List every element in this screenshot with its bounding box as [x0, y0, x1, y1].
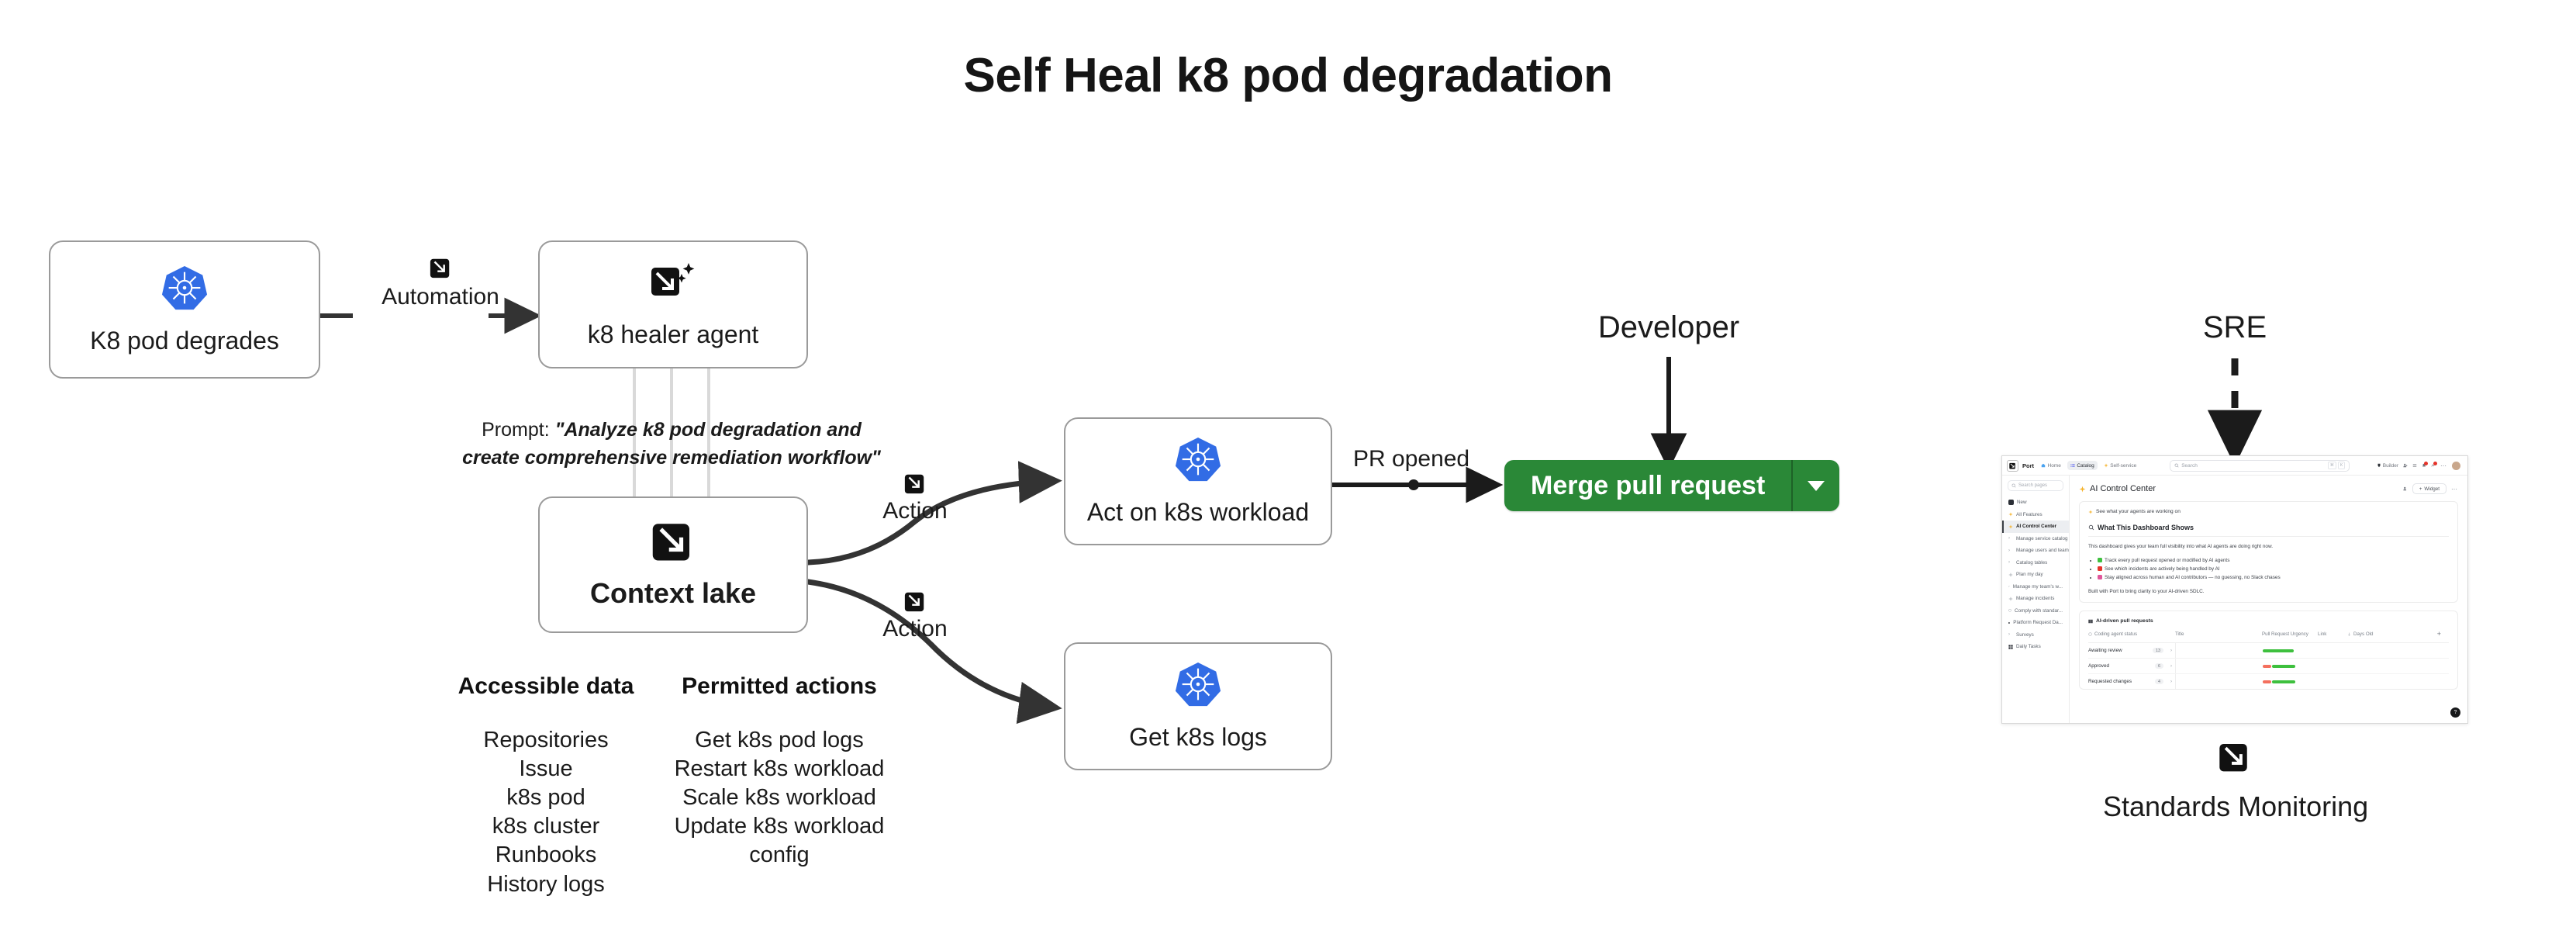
row-count-badge: 13	[2153, 648, 2163, 653]
search-icon	[2011, 483, 2016, 488]
sidebar-item-platform-request-dashboard[interactable]: Platform Request Da...	[2002, 617, 2069, 629]
topnav-label: Self-service	[2110, 463, 2136, 469]
column-header-title[interactable]: Title	[2175, 631, 2262, 637]
sidebar-search-input[interactable]: Search pages	[2008, 480, 2063, 491]
incident-icon	[2008, 597, 2013, 601]
list-item: Issue	[442, 755, 650, 784]
merge-button-label[interactable]: Merge pull request	[1504, 460, 1791, 511]
urgency-bar-green	[2263, 649, 2294, 652]
port-icon	[845, 590, 985, 613]
row-status-label: Requested changes	[2088, 679, 2132, 684]
accessible-data-heading: Accessible data	[442, 673, 650, 700]
list-item: Restart k8s workload	[667, 755, 892, 784]
shortcut-key: ⌘	[2328, 462, 2336, 469]
integrations-icon[interactable]	[2412, 463, 2417, 468]
column-header-pull-request-urgency[interactable]: Pull Request Urgency	[2262, 631, 2318, 637]
row-status-cell: Requested changes 4 ›	[2088, 674, 2176, 689]
check-emoji-icon	[2098, 558, 2102, 562]
builder-icon	[2377, 463, 2381, 468]
shield-icon	[2008, 608, 2011, 613]
port-sparkle-icon	[644, 260, 702, 306]
topnav-label: Home	[2048, 463, 2061, 469]
sidebar-item-label: New	[2017, 500, 2027, 505]
search-shortcut: ⌘ K	[2328, 462, 2345, 469]
caption-text: Standards Monitoring	[2103, 790, 2367, 823]
sidebar-item-label: Platform Request Da...	[2013, 620, 2063, 625]
magnifier-icon	[2088, 524, 2094, 531]
sidebar-item-label: Catalog tables	[2016, 560, 2047, 566]
section-bullets: Track every pull request opened or modif…	[2088, 556, 2449, 583]
row-status-cell: Approved 6 ›	[2088, 659, 2176, 673]
chevron-right-icon: ›	[2008, 632, 2013, 637]
sidebar-item-surveys[interactable]: › Surveys	[2002, 629, 2069, 642]
row-count-badge: 6	[2155, 663, 2163, 669]
edge-automation: Automation	[347, 256, 534, 310]
port-icon	[651, 520, 695, 563]
column-label: Days Old	[2353, 631, 2373, 637]
prompt-caption: Prompt: "Analyze k8 pod degradation and …	[439, 416, 904, 472]
agents-working-line: See what your agents are working on	[2088, 509, 2449, 514]
spark-icon	[2079, 486, 2086, 493]
list-item: Get k8s pod logs	[667, 726, 892, 755]
urgency-bar-green	[2272, 665, 2295, 667]
chevron-right-icon[interactable]: ›	[2170, 649, 2172, 653]
dashboard-main: AI Control Center + Widget ⋯	[2070, 476, 2467, 723]
row-status-label: Approved	[2088, 663, 2109, 669]
notifications-button[interactable]	[2422, 463, 2426, 468]
list-item: See which incidents are actively being h…	[2098, 565, 2449, 573]
accessible-data-list: Repositories Issue k8s pod k8s cluster R…	[442, 726, 650, 899]
help-icon[interactable]: ?	[2450, 707, 2460, 718]
spark-icon	[2008, 524, 2013, 529]
search-placeholder: Search	[2181, 463, 2198, 469]
list-item: k8s pod	[442, 784, 650, 812]
sidebar-item-plan-my-day[interactable]: Plan my day	[2002, 569, 2069, 581]
dashboard-topbar: Port Home Catalog	[2002, 456, 2467, 476]
merge-pull-request-button[interactable]: Merge pull request	[1504, 460, 1839, 511]
node-label: Context lake	[590, 577, 756, 609]
chevron-right-icon: ›	[2008, 536, 2013, 541]
table-icon	[2088, 619, 2093, 624]
sidebar-item-manage-my-teams-work[interactable]: Manage my team's w...	[2002, 581, 2069, 593]
activity-button[interactable]	[2431, 463, 2436, 468]
plan-icon	[2008, 573, 2013, 577]
table-row[interactable]: Awaiting review 13 ›	[2088, 643, 2449, 659]
brand-name: Port	[2022, 462, 2034, 469]
list-icon	[2070, 463, 2075, 468]
dashboard-search-input[interactable]: Search ⌘ K	[2170, 460, 2350, 472]
dashboard-page-title: AI Control Center	[2090, 484, 2156, 493]
edge-pr-opened: PR opened	[1353, 446, 1469, 472]
sidebar-item-label: All Features	[2016, 512, 2042, 517]
sidebar-item-daily-tasks[interactable]: Daily Tasks	[2002, 641, 2069, 653]
group-icon	[2088, 632, 2092, 636]
accessible-data-column: Accessible data Repositories Issue k8s p…	[442, 673, 650, 899]
permitted-actions-column: Permitted actions Get k8s pod logs Resta…	[667, 673, 892, 870]
section-title-text: What This Dashboard Shows	[2098, 524, 2194, 531]
sidebar-item-catalog-tables[interactable]: › Catalog tables	[2002, 557, 2069, 569]
prompt-prefix: Prompt:	[482, 419, 550, 441]
node-label: k8 healer agent	[588, 320, 759, 349]
home-icon	[2041, 463, 2046, 468]
bullet-text: See which incidents are actively being h…	[2105, 566, 2220, 572]
diagram-canvas: Self Heal k8 pod degradation	[0, 0, 2576, 934]
sidebar-item-ai-control-center[interactable]: AI Control Center	[2002, 521, 2069, 533]
table-row[interactable]: Approved 6 ›	[2088, 659, 2449, 674]
node-context-lake[interactable]: Context lake	[538, 496, 808, 633]
merge-dropdown-button[interactable]	[1793, 460, 1839, 511]
node-k8-pod-degrades[interactable]: K8 pod degrades	[49, 240, 320, 379]
handshake-emoji-icon	[2098, 575, 2102, 579]
permitted-actions-list: Get k8s pod logs Restart k8s workload Sc…	[667, 726, 892, 870]
port-icon	[2103, 741, 2367, 773]
permitted-actions-heading: Permitted actions	[667, 673, 892, 700]
column-header-coding-agent-status[interactable]: Coding agent status	[2088, 631, 2175, 637]
sidebar-item-manage-service-catalog[interactable]: › Manage service catalog	[2002, 533, 2069, 545]
list-item: Repositories	[442, 726, 650, 755]
column-header-link[interactable]: Link	[2318, 631, 2347, 637]
builder-label: Builder	[2383, 463, 2398, 469]
list-item: History logs	[442, 870, 650, 899]
node-label: Act on k8s workload	[1087, 498, 1309, 527]
row-urgency-cell	[2263, 665, 2319, 667]
more-icon[interactable]: ⋯	[2440, 462, 2447, 469]
kubernetes-icon	[161, 265, 209, 313]
node-k8-healer-agent[interactable]: k8 healer agent	[538, 240, 808, 368]
sidebar-item-label: Surveys	[2016, 632, 2034, 638]
sort-icon	[2347, 632, 2351, 636]
plus-icon	[2008, 500, 2014, 505]
sidebar-item-label: Comply with standar...	[2015, 608, 2063, 614]
chevron-right-icon: ›	[2008, 560, 2013, 565]
list-item: Scale k8s workload	[667, 784, 892, 812]
sidebar-item-manage-users-and-teams[interactable]: › Manage users and teams	[2002, 545, 2069, 557]
row-urgency-cell	[2263, 680, 2319, 683]
edge-label: Action	[845, 498, 985, 524]
edge-action-top: Action	[845, 472, 985, 524]
chevron-right-icon: ›	[2008, 548, 2013, 553]
dashboard-topnav: Home Catalog Self-service	[2038, 461, 2139, 470]
alert-emoji-icon	[2098, 566, 2102, 571]
bullet-text: Stay aligned across human and AI contrib…	[2105, 575, 2281, 580]
list-item: Stay aligned across human and AI contrib…	[2098, 573, 2449, 582]
dashboard-topbar-actions: Builder	[2377, 462, 2463, 470]
add-column-button[interactable]: +	[2437, 630, 2449, 638]
urgency-bar-green	[2272, 680, 2295, 683]
shortcut-key: K	[2338, 462, 2345, 469]
table-title-text: AI-driven pull requests	[2096, 618, 2153, 624]
spark-icon	[2088, 510, 2093, 514]
column-label: Coding agent status	[2094, 631, 2137, 637]
dashboard-page-header: AI Control Center + Widget ⋯	[2079, 483, 2458, 494]
sidebar-item-comply-with-standards[interactable]: Comply with standar...	[2002, 605, 2069, 617]
page-header-actions: + Widget ⋯	[2403, 483, 2458, 494]
sidebar-item-new[interactable]: New	[2002, 496, 2069, 509]
agents-working-text: See what your agents are working on	[2096, 509, 2181, 514]
row-count-badge: 4	[2155, 679, 2163, 684]
port-icon	[845, 472, 985, 495]
sidebar-item-label: Plan my day	[2016, 572, 2043, 577]
notifications-icon	[2422, 463, 2426, 468]
standards-monitoring-caption: Standards Monitoring	[2103, 741, 2367, 823]
row-status-label: Awaiting review	[2088, 648, 2122, 653]
grid-icon	[2008, 645, 2013, 649]
grid-icon	[2008, 621, 2010, 625]
dashboard-sidebar: Search pages New All Features AI C	[2002, 476, 2070, 723]
invite-user-icon[interactable]	[2403, 486, 2408, 491]
node-label: K8 pod degrades	[90, 327, 279, 355]
sidebar-search-placeholder: Search pages	[2018, 483, 2047, 488]
section-intro: This dashboard gives your team full visi…	[2088, 543, 2449, 551]
sidebar-item-label: AI Control Center	[2016, 524, 2056, 529]
urgency-bar-red	[2263, 665, 2271, 667]
node-act-on-k8s-workload[interactable]: Act on k8s workload	[1064, 417, 1332, 545]
row-urgency-cell	[2263, 649, 2319, 652]
chevron-down-icon	[1808, 481, 1825, 491]
list-item: Runbooks	[442, 841, 650, 870]
chevron-right-icon[interactable]: ›	[2170, 664, 2172, 669]
spark-icon	[2008, 512, 2013, 517]
kubernetes-icon	[1174, 436, 1222, 484]
dashboard-overview-card: See what your agents are working on What…	[2079, 501, 2458, 603]
port-logo-icon	[2007, 460, 2018, 472]
edge-label: Automation	[347, 284, 534, 310]
plus-icon: +	[2419, 486, 2422, 492]
sidebar-item-label: Manage service catalog	[2016, 536, 2068, 541]
topnav-item-home[interactable]: Home	[2038, 461, 2064, 470]
node-label: Get k8s logs	[1129, 723, 1267, 752]
invite-user-icon[interactable]	[2403, 463, 2408, 468]
list-item: k8s cluster	[442, 812, 650, 841]
activity-icon	[2431, 463, 2436, 468]
column-header-days-old[interactable]: Days Old	[2347, 631, 2394, 637]
builder-button[interactable]: Builder	[2377, 463, 2398, 469]
sidebar-item-label: Daily Tasks	[2016, 644, 2041, 649]
pull-requests-card: AI-driven pull requests Coding agent sta…	[2079, 611, 2458, 690]
edge-action-bottom: Action	[845, 590, 985, 642]
topnav-item-self-service[interactable]: Self-service	[2101, 461, 2139, 470]
sidebar-item-label: Manage users and teams	[2016, 548, 2069, 553]
list-item: Track every pull request opened or modif…	[2098, 556, 2449, 565]
port-dashboard-screenshot[interactable]: Port Home Catalog	[2001, 455, 2468, 724]
prompt-line-2: create comprehensive remediation workflo…	[462, 447, 881, 469]
divider	[2088, 536, 2449, 537]
widget-button-label: Widget	[2424, 486, 2440, 492]
spark-icon	[2104, 463, 2108, 468]
topnav-label: Catalog	[2077, 463, 2094, 469]
prompt-line-1: "Analyze k8 pod degradation and	[555, 419, 862, 441]
bullet-text: Track every pull request opened or modif…	[2105, 558, 2229, 563]
avatar-icon[interactable]	[2452, 462, 2460, 470]
sidebar-item-manage-incidents[interactable]: Manage incidents	[2002, 593, 2069, 605]
edge-label: Action	[845, 616, 985, 642]
sidebar-item-label: Manage my team's w...	[2013, 584, 2063, 590]
persona-sre: SRE	[2103, 310, 2367, 345]
team-icon	[2008, 584, 2010, 589]
kubernetes-icon	[1174, 661, 1222, 709]
table-header-row: Coding agent status Title Pull Request U…	[2088, 630, 2449, 643]
table-row[interactable]: Requested changes 4 ›	[2088, 674, 2449, 689]
section-footer: Built with Port to bring clarity to your…	[2088, 588, 2449, 596]
table-title: AI-driven pull requests	[2088, 618, 2449, 624]
more-icon[interactable]: ⋯	[2451, 486, 2458, 493]
list-item: config	[667, 841, 892, 870]
add-widget-button[interactable]: + Widget	[2412, 483, 2447, 494]
sidebar-item-all-features[interactable]: All Features	[2002, 509, 2069, 521]
search-icon	[2174, 463, 2179, 468]
dashboard-body: Search pages New All Features AI C	[2002, 476, 2467, 723]
topnav-item-catalog[interactable]: Catalog	[2067, 461, 2098, 470]
persona-developer: Developer	[1537, 310, 1801, 345]
port-icon	[347, 256, 534, 279]
section-title: What This Dashboard Shows	[2088, 524, 2449, 531]
urgency-bar-red	[2263, 680, 2271, 683]
list-item: Update k8s workload	[667, 812, 892, 841]
node-get-k8s-logs[interactable]: Get k8s logs	[1064, 642, 1332, 770]
sidebar-item-label: Manage incidents	[2016, 596, 2054, 601]
chevron-right-icon[interactable]: ›	[2170, 680, 2172, 684]
row-status-cell: Awaiting review 13 ›	[2088, 643, 2176, 658]
